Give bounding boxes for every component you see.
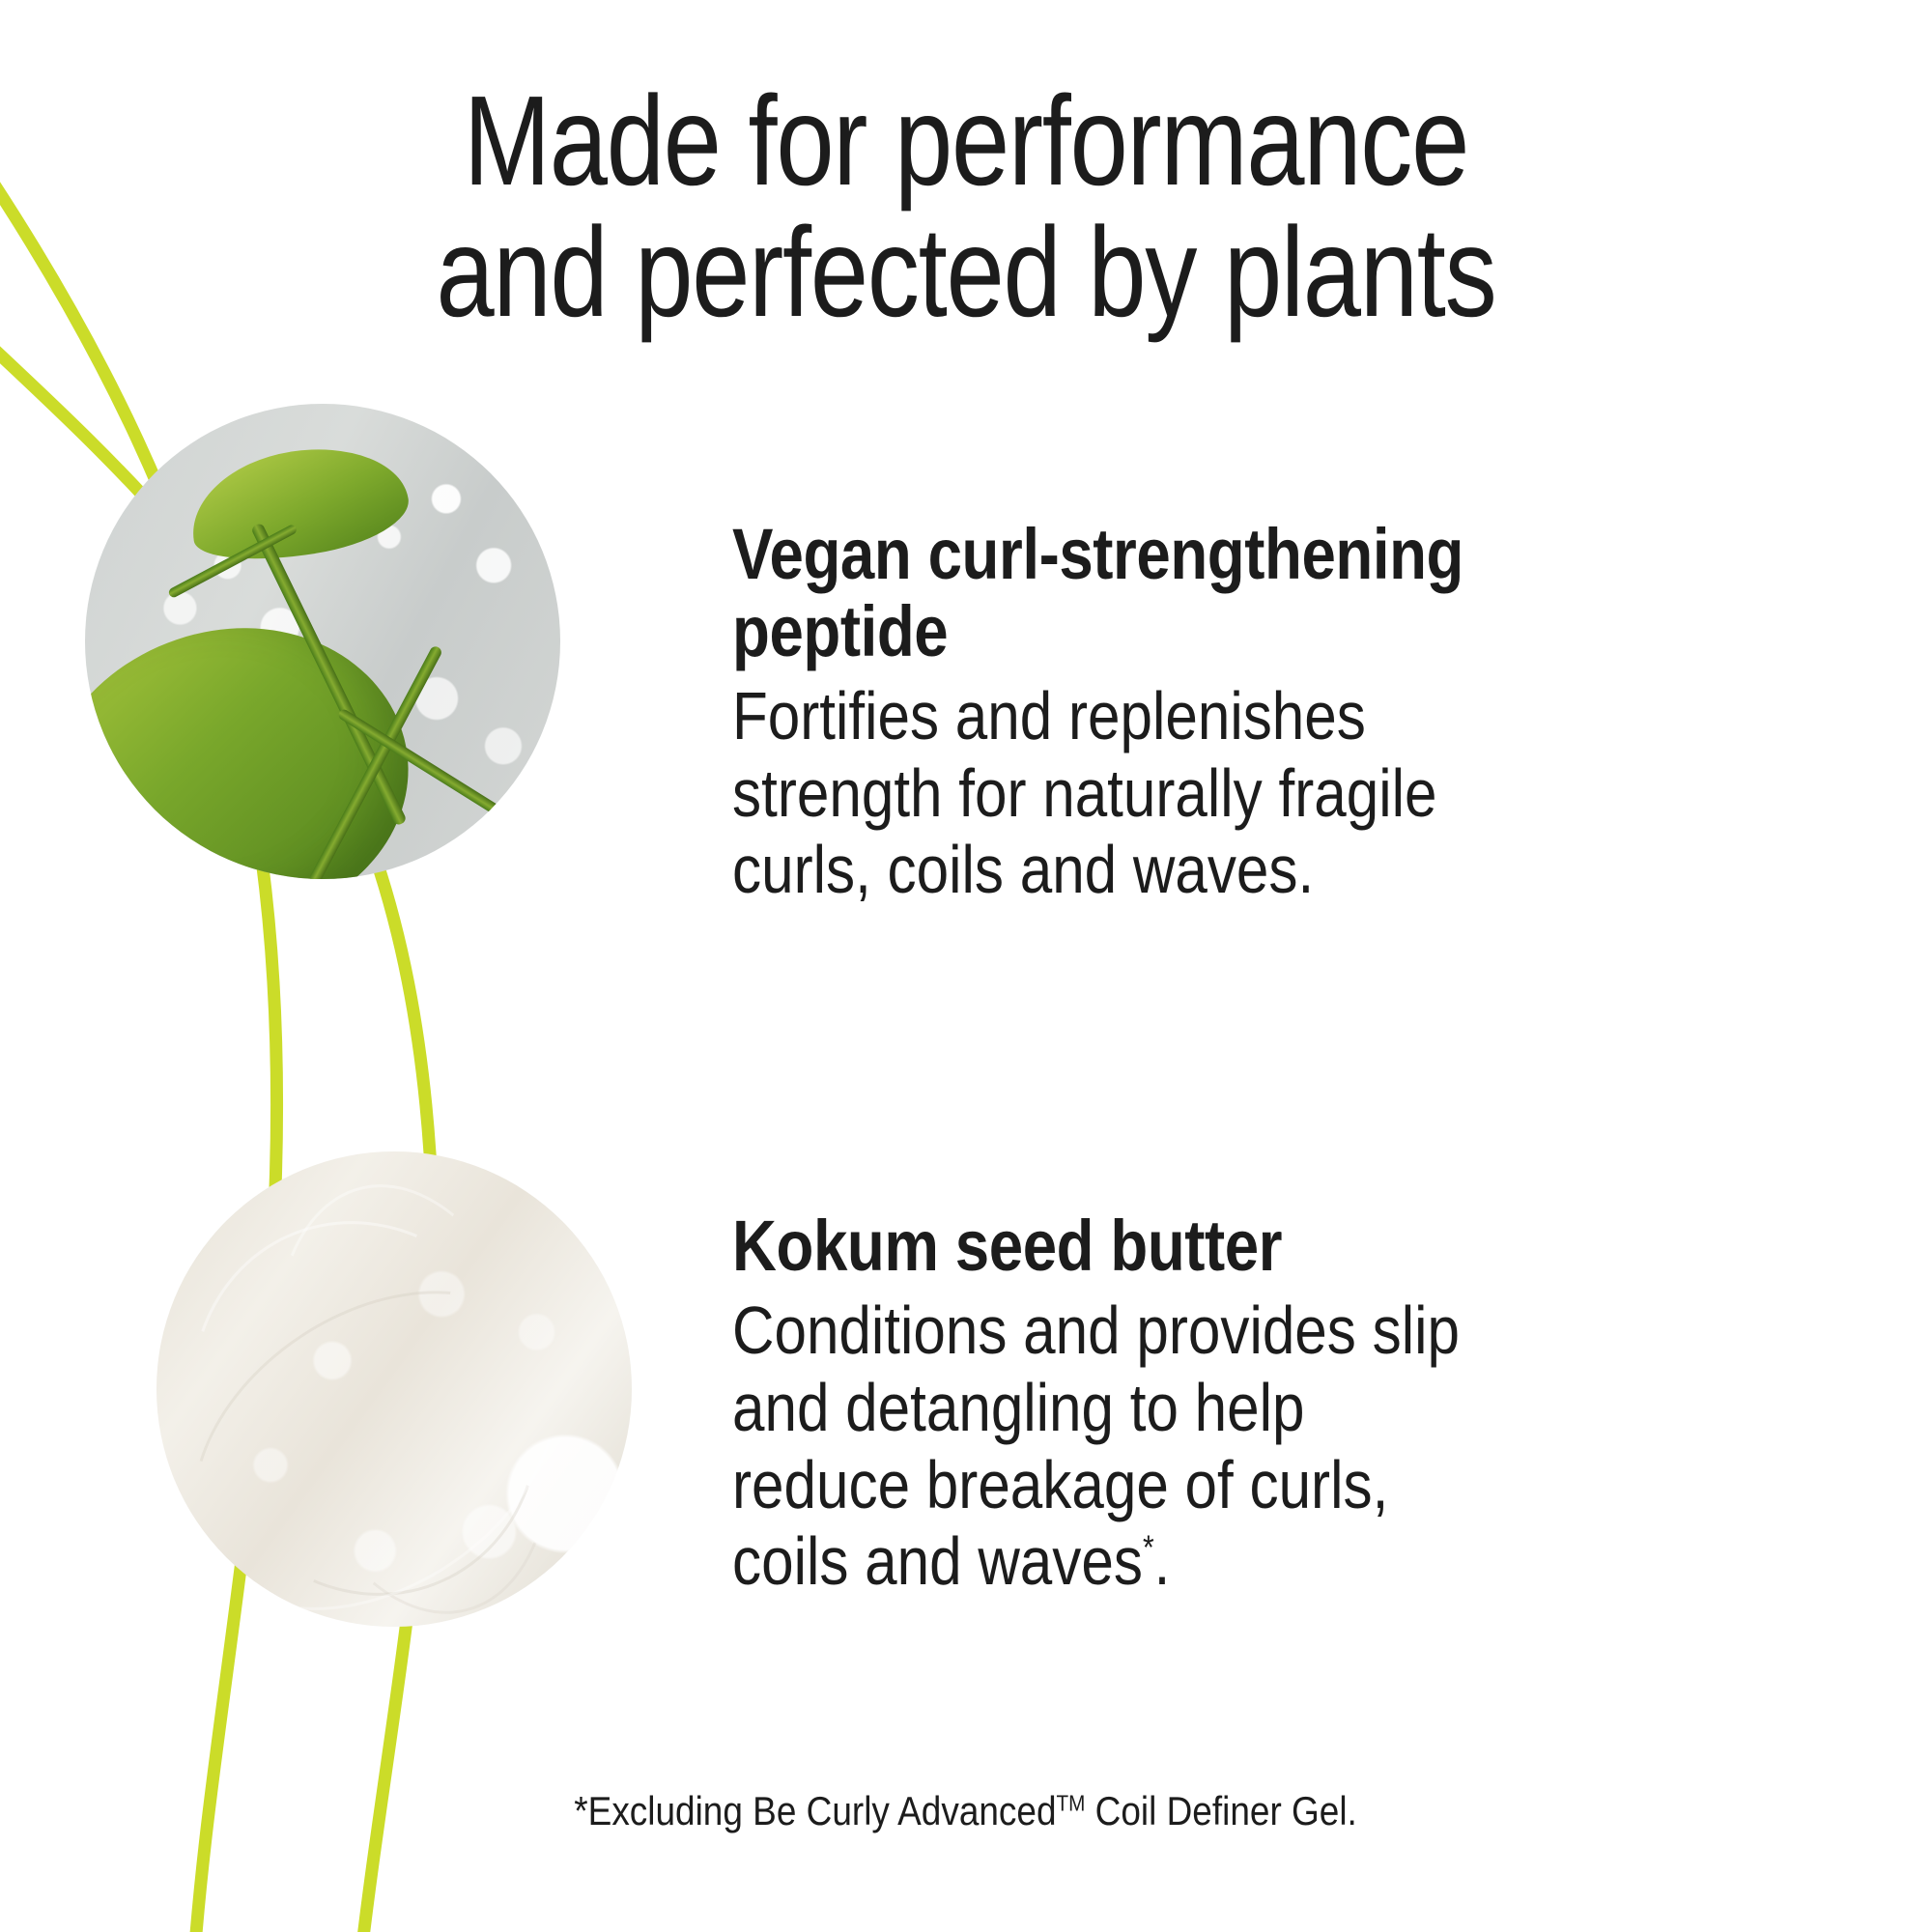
ribbon-line-left (0, 135, 277, 1932)
footnote: *Excluding Be Curly AdvancedTM Coil Defi… (0, 1787, 1932, 1835)
footnote-marker-inline: * (1143, 1529, 1154, 1567)
footnote-text-tail: Coil Definer Gel. (1086, 1788, 1357, 1833)
ingredient-block-peptide: Vegan curl-strengthening peptide Fortifi… (732, 516, 1708, 909)
ingredient-description-kokum: Conditions and provides slip and detangl… (732, 1293, 1480, 1601)
ingredient-title-peptide: Vegan curl-strengthening peptide (732, 516, 1572, 670)
page-title: Made for performance and perfected by pl… (174, 75, 1758, 338)
ingredient-description-kokum-main: Conditions and provides slip and detangl… (732, 1293, 1460, 1599)
footnote-asterisk: * (575, 1788, 588, 1833)
page-title-line-2: and perfected by plants (174, 207, 1758, 338)
trademark-symbol: TM (1057, 1790, 1086, 1815)
ingredient-image-peptide (85, 404, 560, 879)
ingredient-description-peptide: Fortifies and replenishes strength for n… (732, 678, 1480, 909)
page-title-line-1: Made for performance (174, 75, 1758, 207)
ingredient-image-kokum (156, 1151, 632, 1627)
footnote-text-main: Excluding Be Curly Advanced (588, 1788, 1057, 1833)
ingredient-description-kokum-period: . (1154, 1523, 1171, 1599)
leaf-shape-small (183, 435, 414, 572)
ingredient-title-kokum: Kokum seed butter (732, 1207, 1572, 1285)
footnote-inner: *Excluding Be Curly AdvancedTM Coil Defi… (575, 1787, 1358, 1835)
ingredient-block-kokum: Kokum seed butter Conditions and provide… (732, 1207, 1708, 1601)
